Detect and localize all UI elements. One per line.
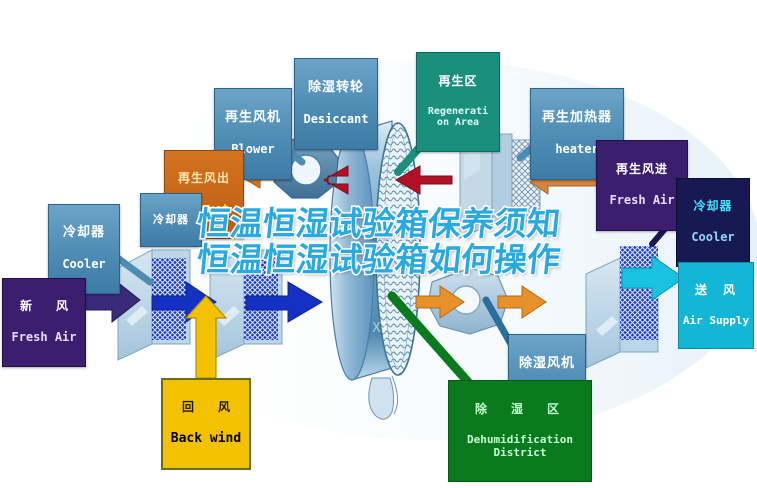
- label-cn: 除 湿 区: [451, 403, 589, 416]
- label-regeneration-area: 再生区 Regenerati on Area: [416, 52, 500, 152]
- label-cn: 新 风: [5, 300, 83, 313]
- label-fresh-air-in: 新 风 Fresh Air: [2, 278, 86, 367]
- label-cn: 再生加热器: [533, 111, 621, 126]
- label-desiccant-wheel: 除湿转轮 Desiccant: [294, 58, 378, 150]
- label-regeneration-air-in: 再生风进 Fresh Air: [596, 140, 688, 231]
- label-cn: 冷却器: [143, 214, 199, 226]
- svg-text:XT: XT: [372, 321, 389, 336]
- label-en: Back wind: [165, 432, 247, 447]
- label-back-wind: 回 风 Back wind: [161, 378, 251, 470]
- label-cn: 再生风机: [217, 111, 289, 126]
- label-cn: 冷却器: [51, 226, 117, 241]
- label-air-supply: 送 风 Air Supply: [678, 262, 754, 349]
- label-en: Dehumidification District: [451, 434, 589, 459]
- label-cn: 冷却器: [679, 200, 747, 213]
- label-en: Cooler: [679, 231, 747, 244]
- label-cn: 除湿转轮: [297, 81, 375, 96]
- label-en: Regenerati on Area: [419, 106, 497, 128]
- label-en: Cooler: [51, 258, 117, 271]
- label-cn: 再生区: [419, 75, 497, 88]
- label-cn: 除湿风机: [511, 357, 583, 372]
- label-cooler-right: 冷却器 Cooler: [676, 178, 750, 267]
- dehumidifier-diagram: XT: [0, 0, 757, 488]
- label-dehumidification-district: 除 湿 区 Dehumidification District: [448, 380, 592, 482]
- label-en: Fresh Air: [599, 194, 685, 207]
- label-cn: 再生风出: [167, 172, 241, 185]
- label-cooler-mid: 冷却器: [140, 193, 202, 247]
- label-cn: 送 风: [681, 284, 751, 297]
- label-cn: 再生风进: [599, 163, 685, 176]
- label-en: Fresh Air: [5, 331, 83, 344]
- label-en: Air Supply: [681, 315, 751, 327]
- label-en: Desiccant: [297, 113, 375, 126]
- label-cn: 回 风: [165, 401, 247, 414]
